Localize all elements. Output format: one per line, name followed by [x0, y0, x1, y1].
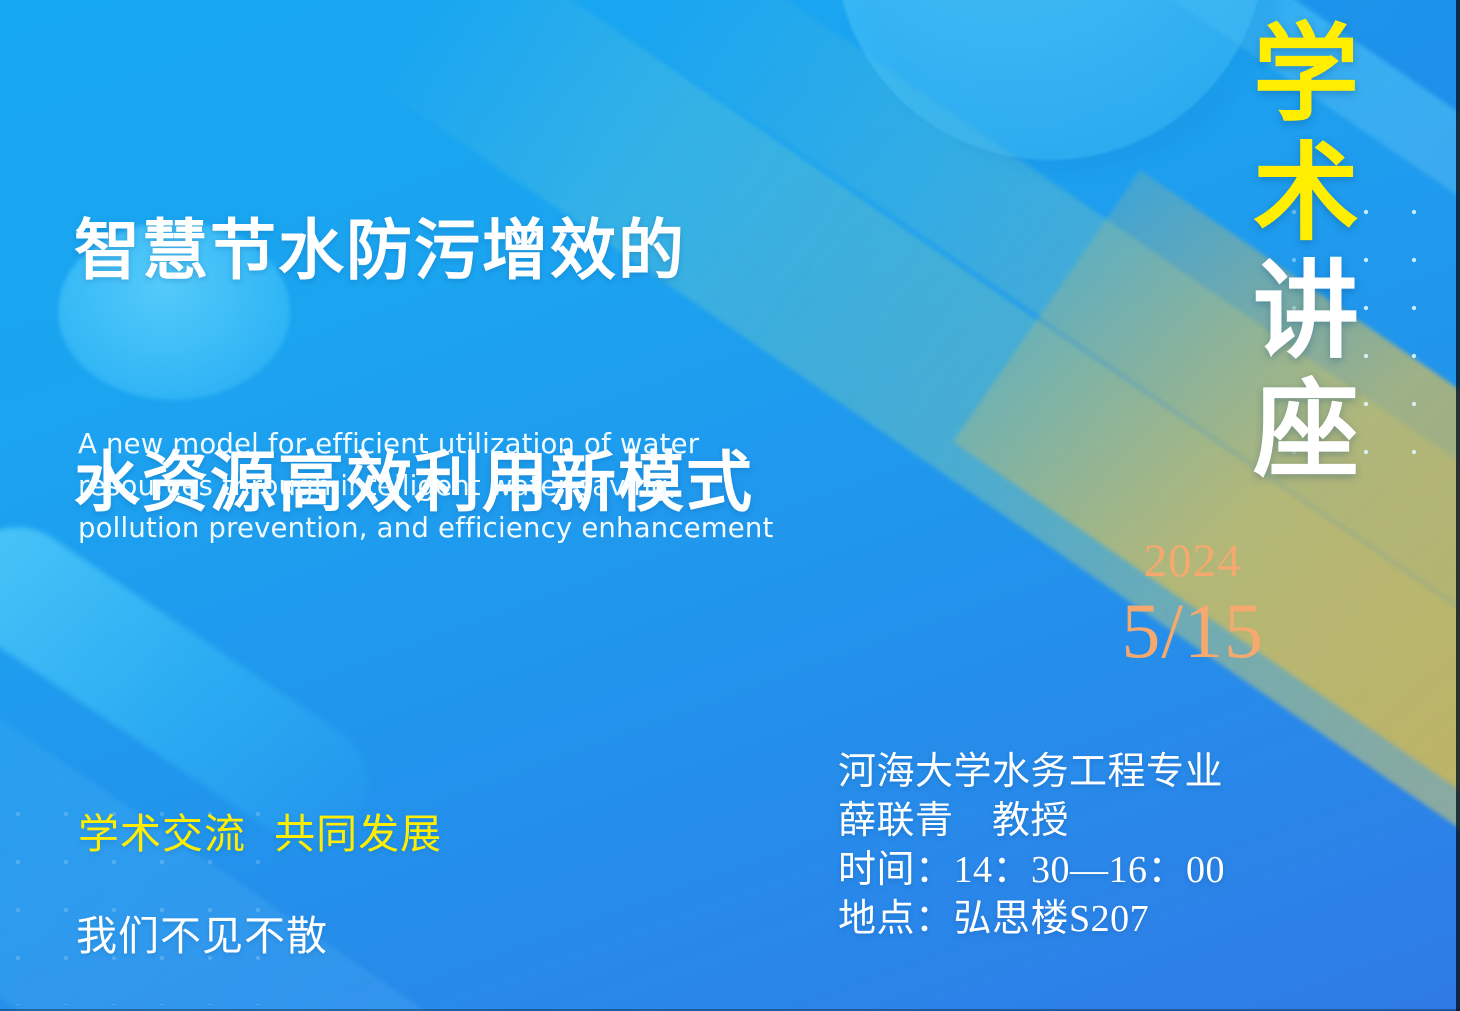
- vertical-char-2: 术: [1248, 135, 1364, 254]
- page-title: 智慧节水防污增效的 水资源高效利用新模式: [74, 58, 754, 676]
- vertical-char-4: 座: [1248, 372, 1364, 491]
- subtitle-line-3: pollution prevention, and efficiency enh…: [78, 508, 808, 550]
- vertical-headline: 学 术 讲 座: [1248, 16, 1364, 491]
- date-day: 5/15: [1121, 585, 1264, 677]
- date-year: 2024: [1121, 538, 1264, 585]
- subtitle-english: A new model for efficient utilization of…: [78, 424, 808, 549]
- poster-content: 智慧节水防污增效的 水资源高效利用新模式 A new model for eff…: [0, 0, 1460, 1011]
- lecture-poster: 智慧节水防污增效的 水资源高效利用新模式 A new model for eff…: [0, 0, 1460, 1011]
- vertical-char-1: 学: [1248, 16, 1364, 135]
- subtitle-line-1: A new model for efficient utilization of…: [78, 424, 808, 466]
- closing-text: 我们不见不散: [76, 902, 328, 962]
- event-date: 2024 5/15: [1121, 538, 1264, 677]
- vertical-char-3: 讲: [1248, 253, 1364, 372]
- detail-speaker: 薛联青 教授: [838, 797, 1225, 846]
- event-details: 河海大学水务工程专业 薛联青 教授 时间：14：30—16：00 地点：弘思楼S…: [838, 748, 1225, 944]
- subtitle-line-2: resources through intelligent water-savi…: [78, 466, 808, 508]
- detail-location: 地点：弘思楼S207: [838, 895, 1225, 944]
- slogan-text: 学术交流 共同发展: [78, 800, 442, 860]
- title-line-1: 智慧节水防污增效的: [74, 212, 754, 289]
- detail-affiliation: 河海大学水务工程专业: [838, 748, 1225, 797]
- detail-time: 时间：14：30—16：00: [838, 846, 1225, 895]
